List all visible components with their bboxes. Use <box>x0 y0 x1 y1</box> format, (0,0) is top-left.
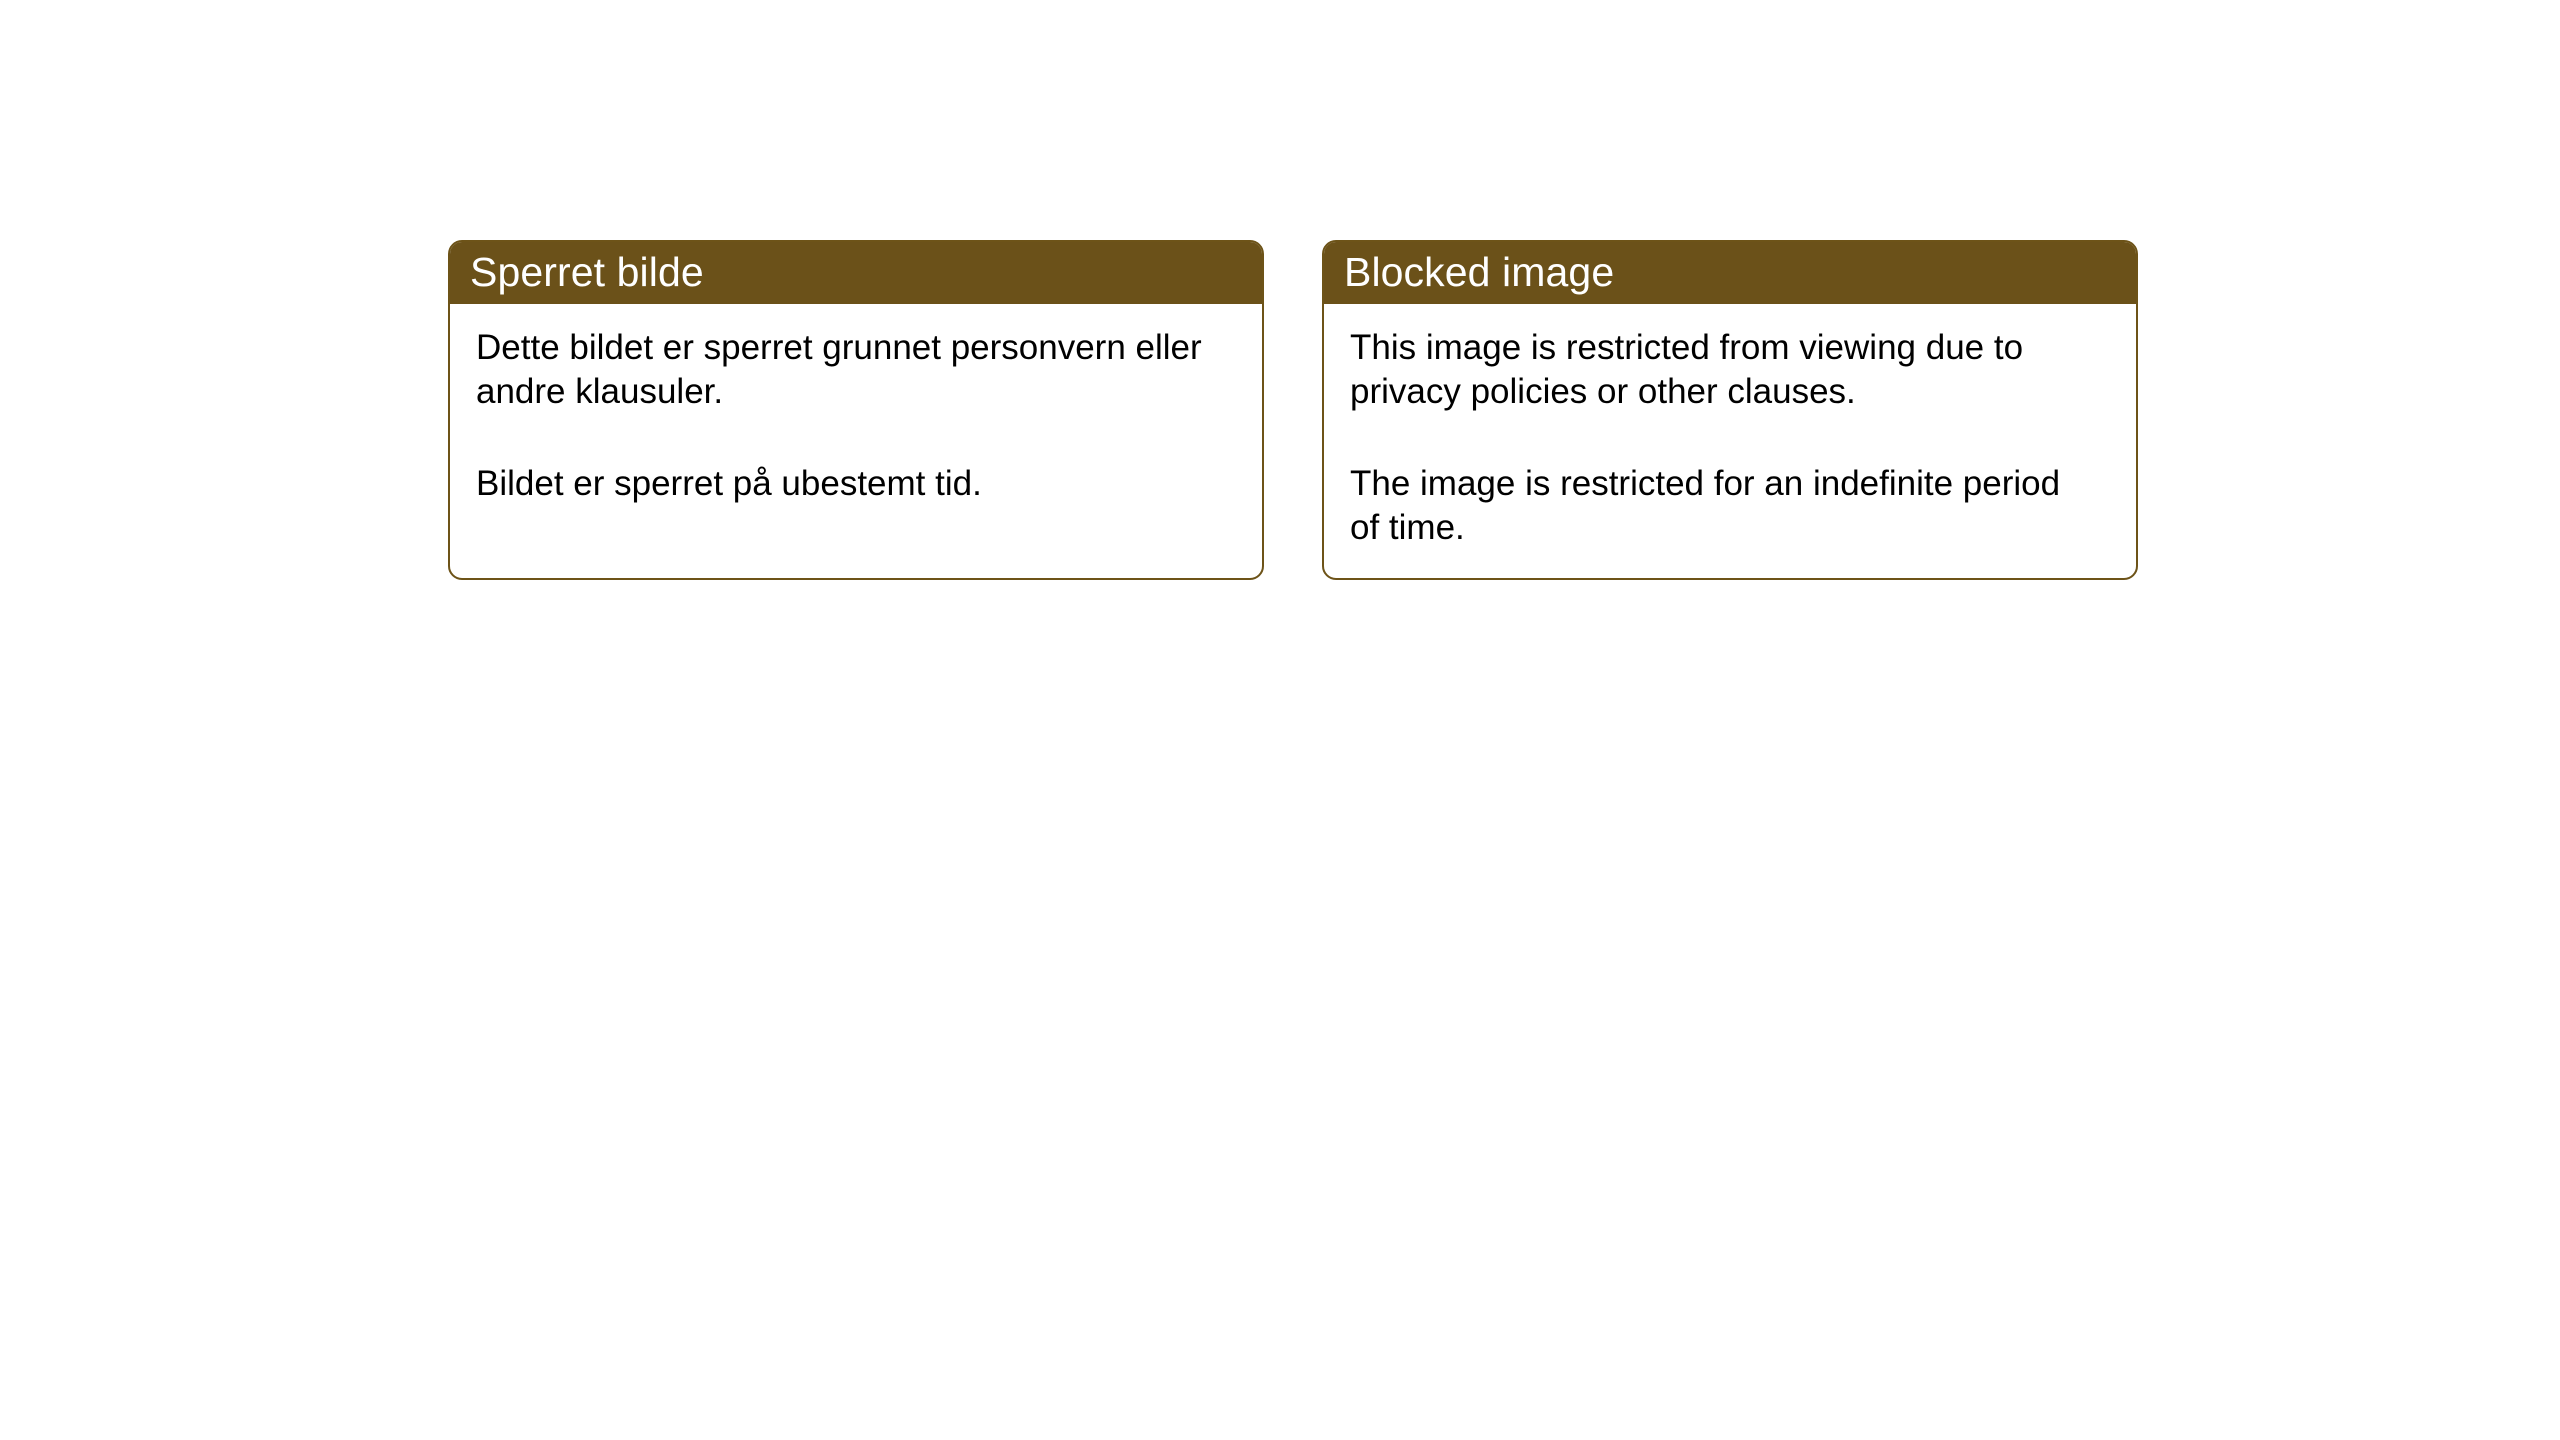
card-body: Dette bildet er sperret grunnet personve… <box>450 304 1262 506</box>
card-title: Sperret bilde <box>470 252 704 293</box>
blocked-image-card-norwegian: Sperret bilde Dette bildet er sperret gr… <box>448 240 1264 580</box>
card-body: This image is restricted from viewing du… <box>1324 304 2136 550</box>
card-paragraph-secondary: The image is restricted for an indefinit… <box>1350 462 2090 550</box>
card-header: Blocked image <box>1322 240 2138 304</box>
blocked-image-card-english: Blocked image This image is restricted f… <box>1322 240 2138 580</box>
card-paragraph-secondary: Bildet er sperret på ubestemt tid. <box>476 462 1216 506</box>
card-paragraph-primary: This image is restricted from viewing du… <box>1350 326 2090 414</box>
card-header: Sperret bilde <box>448 240 1264 304</box>
page-root: Sperret bilde Dette bildet er sperret gr… <box>0 0 2560 1440</box>
card-paragraph-primary: Dette bildet er sperret grunnet personve… <box>476 326 1216 414</box>
card-title: Blocked image <box>1344 252 1614 293</box>
